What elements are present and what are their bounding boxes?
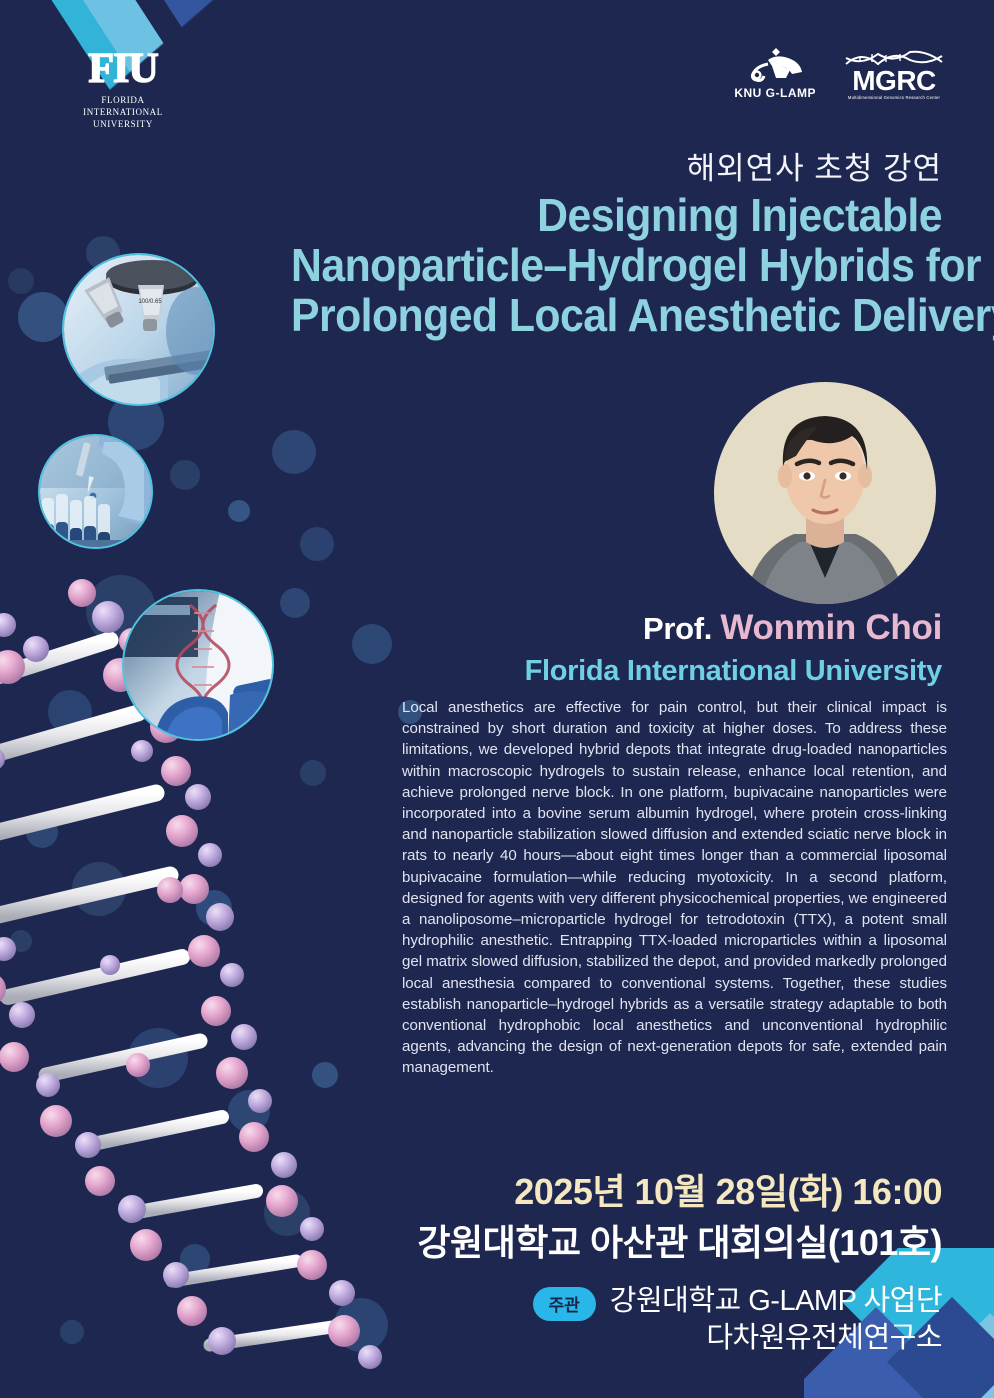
fiu-wordmark: FIU (58, 48, 188, 90)
speaker-full-name: Wonmin Choi (720, 608, 942, 647)
page-title: Designing Injectable Nanoparticle–Hydrog… (291, 190, 942, 340)
partner-logos: KNU G-LAMP MGRC Multidimensional Genomic… (734, 48, 946, 100)
knu-glamp-logo: KNU G-LAMP (734, 48, 816, 100)
fiu-line-3: UNIVERSITY (58, 118, 188, 130)
organizer-block: 주관 강원대학교 G-LAMP 사업단 다차원유전체연구소 (533, 1283, 943, 1357)
speaker-name: Prof. Wonmin Choi (643, 610, 942, 645)
eyebrow-label: 해외연사 초청 강연 (687, 143, 942, 188)
mgrc-logo: MGRC Multidimensional Genomics Research … (842, 48, 946, 100)
lamp-icon (734, 48, 816, 82)
organizer-badge: 주관 (533, 1287, 596, 1321)
abstract-text: Local anesthetics are effective for pain… (402, 697, 947, 1079)
svg-text:100/0.65: 100/0.65 (138, 299, 162, 305)
event-date: 2025년 10월 28일(화) 16:00 (514, 1163, 942, 1215)
title-line-1: Designing Injectable (291, 190, 942, 240)
organizer-line-2: 다차원유전체연구소 (610, 1320, 942, 1357)
test-tubes-photo (38, 434, 153, 549)
speaker-portrait-photo (714, 382, 936, 604)
organizer-names: 강원대학교 G-LAMP 사업단 다차원유전체연구소 (610, 1283, 942, 1357)
microscope-photo: 100/0.65 (62, 253, 215, 406)
title-line-2: Nanoparticle–Hydrogel Hybrids for (291, 240, 942, 290)
title-line-3: Prolonged Local Anesthetic Delivery (291, 290, 942, 340)
organizer-line-1: 강원대학교 G-LAMP 사업단 (610, 1283, 942, 1320)
fiu-line-2: INTERNATIONAL (58, 106, 188, 118)
event-venue: 강원대학교 아산관 대회의실(101호) (417, 1214, 942, 1266)
mgrc-wordmark: MGRC (842, 68, 946, 95)
fiu-line-1: FLORIDA (58, 94, 188, 106)
fiu-logo: FIU FLORIDA INTERNATIONAL UNIVERSITY (58, 48, 188, 130)
speaker-title-prefix: Prof. (643, 611, 720, 646)
fiu-logo-subtitle: FLORIDA INTERNATIONAL UNIVERSITY (58, 94, 188, 130)
dna-lab-photo (122, 589, 274, 741)
poster-root: 100/0.65 (0, 0, 994, 1398)
knu-glamp-label: KNU G-LAMP (734, 86, 816, 100)
speaker-affiliation: Florida International University (525, 655, 942, 688)
mgrc-tagline: Multidimensional Genomics Research Cente… (842, 95, 946, 101)
